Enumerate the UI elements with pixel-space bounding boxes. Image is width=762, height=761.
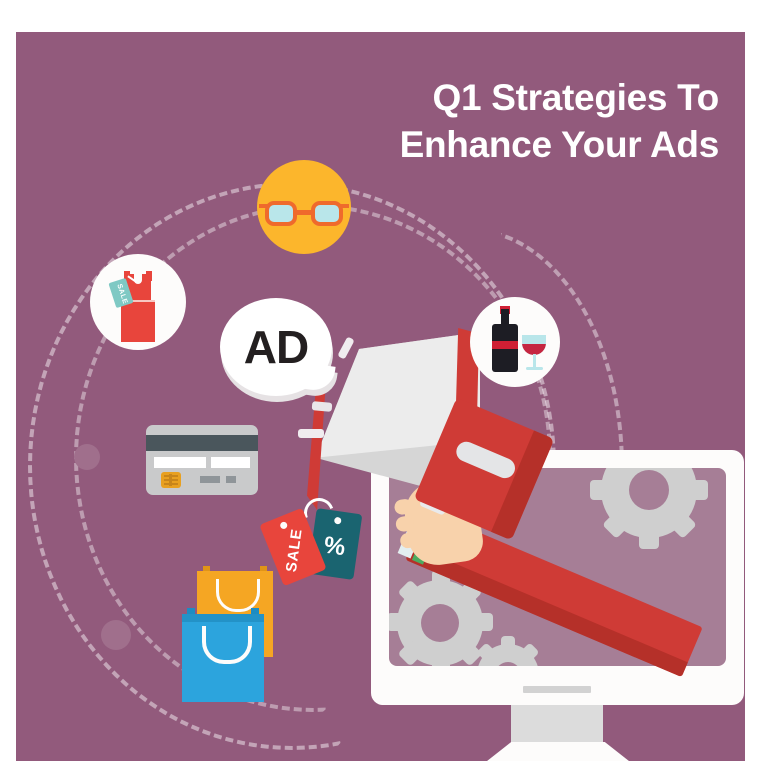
dress-sale-tag-label: SALE xyxy=(115,283,127,301)
gear-icon xyxy=(601,468,697,538)
smiley-sunglasses-icon xyxy=(257,160,351,254)
monitor-stand-base xyxy=(468,742,648,761)
shopping-bag-blue xyxy=(182,614,264,702)
monitor-control-bar xyxy=(523,686,591,693)
gear-icon xyxy=(477,644,539,666)
poster-background: Q1 Strategies To Enhance Your Ads xyxy=(16,32,745,761)
gear-icon xyxy=(397,580,483,666)
sound-wave-mark xyxy=(298,429,324,438)
monitor-stand-neck xyxy=(511,705,603,744)
orbit-dot xyxy=(74,444,100,470)
wine-badge xyxy=(470,297,560,387)
dress-badge: SALE xyxy=(90,254,186,350)
sale-tag-label: SALE xyxy=(282,521,307,579)
credit-card-icon xyxy=(146,425,258,495)
headline-line-1: Q1 Strategies To xyxy=(433,77,720,118)
poster-canvas: Q1 Strategies To Enhance Your Ads xyxy=(0,0,762,761)
speech-bubble-label: AD xyxy=(220,298,332,396)
sound-wave-mark xyxy=(312,401,333,412)
headline-line-2: Enhance Your Ads xyxy=(299,121,719,168)
page-title: Q1 Strategies To Enhance Your Ads xyxy=(299,74,719,169)
orbit-dot xyxy=(101,620,131,650)
